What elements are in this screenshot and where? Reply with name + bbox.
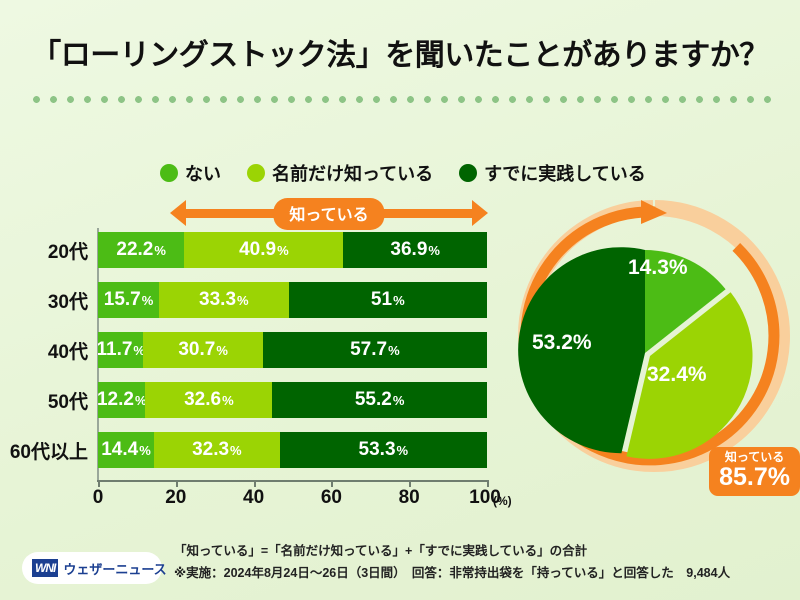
stacked-bar-60s-plus: 14.4% 32.3% 53.3% — [98, 432, 487, 468]
x-tick-label-0: 0 — [93, 487, 104, 509]
badge-value: 85.7% — [719, 464, 790, 490]
badge-title: 知っている — [719, 451, 790, 464]
weathernews-logo: WNI ウェザーニュース — [22, 552, 162, 584]
dotted-divider — [28, 96, 772, 103]
legend-item-practicing: すでに実践している — [459, 160, 646, 186]
x-tick-80 — [409, 480, 411, 487]
knowing-bracket-arrow: 知っている — [170, 198, 488, 228]
x-tick-label-80: 80 — [399, 487, 420, 509]
status-badge: 知っている 85.7% — [709, 447, 800, 496]
bar-segment-practicing: 36.9% — [343, 232, 487, 268]
table-row: 60代以上 14.4% 32.3% 53.3% — [0, 432, 520, 468]
x-tick-60 — [331, 480, 333, 487]
bar-segment-name-only: 33.3% — [159, 282, 289, 318]
legend-swatch-practicing — [459, 164, 477, 182]
pie-label-none: 14.3% — [628, 256, 688, 280]
bar-segment-practicing: 51% — [289, 282, 487, 318]
legend-swatch-name-only — [247, 164, 265, 182]
bar-segment-none: 22.2% — [98, 232, 184, 268]
footer-note-definition: 「知っている」=「名前だけ知っている」+「すでに実践している」の合計 — [174, 541, 784, 563]
stacked-bar-30s: 15.7% 33.3% 51% — [98, 282, 487, 318]
x-tick-label-20: 20 — [165, 487, 186, 509]
legend-label-none: ない — [185, 160, 221, 186]
page-title: 「ローリングストック法」を聞いたことがありますか？ — [0, 30, 800, 74]
pie-label-practicing: 53.2% — [532, 331, 592, 355]
bar-segment-name-only: 40.9% — [184, 232, 343, 268]
bar-segment-name-only: 32.3% — [154, 432, 280, 468]
footer-notes: 「知っている」=「名前だけ知っている」+「すでに実践している」の合計 ※実施：2… — [174, 541, 784, 585]
legend-label-name-only: 名前だけ知っている — [272, 160, 433, 186]
wni-logo-icon: WNI — [32, 559, 58, 577]
infographic-root: 「ローリングストック法」を聞いたことがありますか？ ない 名前だけ知っている す… — [0, 0, 800, 600]
pie-label-name-only: 32.4% — [647, 363, 707, 387]
x-tick-100 — [487, 480, 489, 487]
bar-segment-name-only: 32.6% — [145, 382, 272, 418]
table-row: 40代 11.7% 30.7% 57.7% — [0, 332, 520, 368]
x-axis: 0 20 40 60 80 100 (%) — [98, 480, 487, 510]
row-label-40s: 40代 — [0, 332, 88, 368]
x-axis-line — [97, 480, 488, 482]
legend-item-none: ない — [160, 160, 221, 186]
bracket-arrow-right-head-icon — [472, 200, 488, 226]
bar-segment-none: 11.7% — [98, 332, 143, 368]
footer-note-survey: ※実施：2024年8月24日～26日（3日間） 回答：非常持出袋を「持っている」… — [174, 563, 784, 585]
bar-segment-practicing: 53.3% — [280, 432, 487, 468]
table-row: 50代 12.2% 32.6% 55.2% — [0, 382, 520, 418]
table-row: 30代 15.7% 33.3% 51% — [0, 282, 520, 318]
row-label-60s-plus: 60代以上 — [0, 432, 88, 468]
row-label-50s: 50代 — [0, 382, 88, 418]
pie-chart: 14.3% 32.4% 53.2% 知っている 85.7% — [495, 198, 800, 498]
logo-text: ウェザーニュース — [63, 559, 166, 578]
row-label-30s: 30代 — [0, 282, 88, 318]
bar-chart: 知っている 20代 22.2% 40.9% 36.9% 30代 15.7% 33… — [0, 196, 520, 496]
x-tick-label-40: 40 — [243, 487, 264, 509]
legend-item-name-only: 名前だけ知っている — [247, 160, 433, 186]
x-tick-20 — [176, 480, 178, 487]
bar-segment-none: 12.2% — [98, 382, 145, 418]
stacked-bar-40s: 11.7% 30.7% 57.7% — [98, 332, 487, 368]
bar-segment-none: 14.4% — [98, 432, 154, 468]
bar-segment-name-only: 30.7% — [143, 332, 262, 368]
bar-segment-practicing: 57.7% — [263, 332, 487, 368]
bar-segment-none: 15.7% — [98, 282, 159, 318]
row-label-20s: 20代 — [0, 232, 88, 268]
legend: ない 名前だけ知っている すでに実践している — [160, 160, 646, 186]
table-row: 20代 22.2% 40.9% 36.9% — [0, 232, 520, 268]
bracket-label: 知っている — [273, 198, 384, 230]
stacked-bar-20s: 22.2% 40.9% 36.9% — [98, 232, 487, 268]
bracket-arrow-left-head-icon — [170, 200, 186, 226]
legend-swatch-none — [160, 164, 178, 182]
stacked-bar-50s: 12.2% 32.6% 55.2% — [98, 382, 487, 418]
x-tick-40 — [254, 480, 256, 487]
legend-label-practicing: すでに実践している — [484, 160, 646, 186]
x-tick-label-60: 60 — [321, 487, 342, 509]
bar-segment-practicing: 55.2% — [272, 382, 487, 418]
x-tick-0 — [98, 480, 100, 487]
